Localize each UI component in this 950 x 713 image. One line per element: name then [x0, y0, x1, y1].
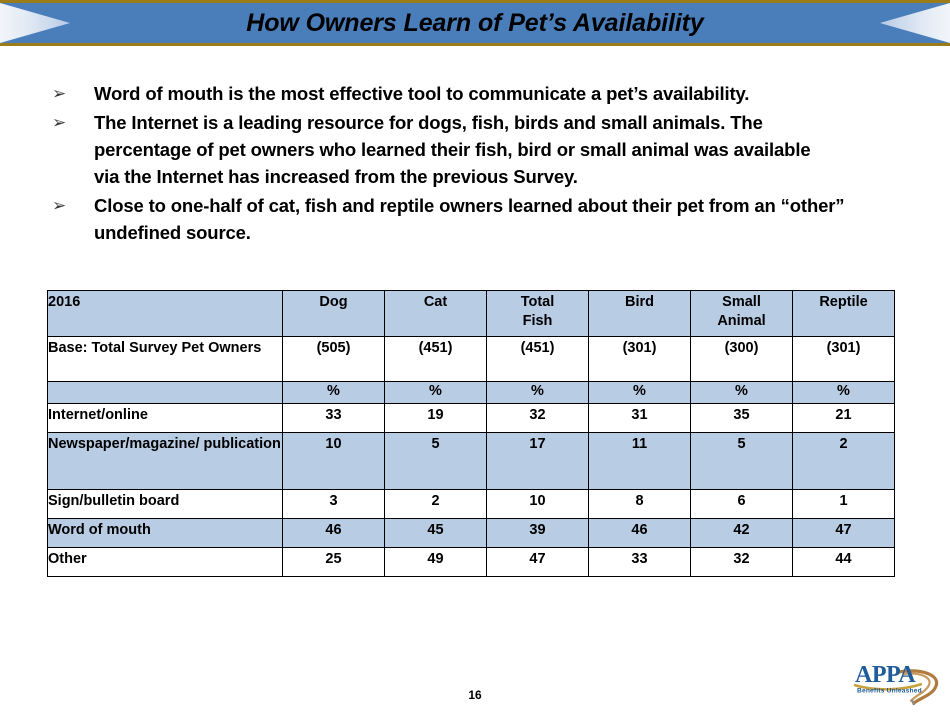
row-label: Base: Total Survey Pet Owners: [48, 337, 283, 382]
row-label: Internet/online: [48, 404, 283, 433]
row-cell: 39: [487, 519, 589, 548]
table-header-total-fish-line2: Fish: [523, 313, 553, 329]
appa-logo-graphic: APPA Benefits Unleashed: [852, 660, 944, 705]
row-cell: 46: [283, 519, 385, 548]
row-cell: (505): [283, 337, 385, 382]
table-row: Other 25 49 47 33 32 44: [48, 548, 895, 577]
table-header-bird: Bird: [589, 291, 691, 337]
row-cell: (300): [691, 337, 793, 382]
table-header-total-fish-line1: Total: [521, 294, 555, 310]
appa-wordmark-text: APPA: [855, 662, 916, 688]
row-cell: (301): [793, 337, 895, 382]
table-header-dog: Dog: [283, 291, 385, 337]
survey-table: 2016 Dog Cat Total Fish Bird Small Anima…: [47, 290, 895, 577]
arrowhead-bullet-icon: ➢: [48, 109, 94, 136]
row-cell: %: [793, 382, 895, 404]
table-header-small-animal-line1: Small: [722, 294, 761, 310]
row-cell: 11: [589, 433, 691, 490]
row-cell: 47: [793, 519, 895, 548]
table-row: Sign/bulletin board 3 2 10 8 6 1: [48, 490, 895, 519]
slide-title: How Owners Learn of Pet’s Availability: [0, 3, 950, 43]
row-cell: 1: [793, 490, 895, 519]
row-label: Other: [48, 548, 283, 577]
row-cell: 2: [385, 490, 487, 519]
list-item: ➢ The Internet is a leading resource for…: [48, 109, 908, 190]
list-item: ➢ Word of mouth is the most effective to…: [48, 80, 908, 107]
row-cell: 5: [691, 433, 793, 490]
arrowhead-bullet-icon: ➢: [48, 192, 94, 219]
row-cell: 10: [487, 490, 589, 519]
row-cell: 45: [385, 519, 487, 548]
row-cell: 21: [793, 404, 895, 433]
row-cell: 33: [589, 548, 691, 577]
table-row: Word of mouth 46 45 39 46 42 47: [48, 519, 895, 548]
row-cell: 25: [283, 548, 385, 577]
row-cell: %: [283, 382, 385, 404]
page-number: 16: [0, 688, 950, 702]
row-cell: (301): [589, 337, 691, 382]
row-cell: 33: [283, 404, 385, 433]
bullet-text: Close to one-half of cat, fish and repti…: [94, 192, 908, 246]
row-cell: (451): [487, 337, 589, 382]
table-header-small-animal: Small Animal: [691, 291, 793, 337]
row-cell: 32: [691, 548, 793, 577]
bullet-text: The Internet is a leading resource for d…: [94, 109, 824, 190]
table-header-reptile: Reptile: [793, 291, 895, 337]
title-banner: How Owners Learn of Pet’s Availability: [0, 0, 950, 46]
appa-tagline-text: Benefits Unleashed: [857, 688, 922, 695]
row-cell: %: [487, 382, 589, 404]
row-cell: 46: [589, 519, 691, 548]
row-cell: 3: [283, 490, 385, 519]
row-cell: 44: [793, 548, 895, 577]
table-row: % % % % % %: [48, 382, 895, 404]
row-cell: 42: [691, 519, 793, 548]
appa-logo: APPA Benefits Unleashed: [852, 660, 944, 705]
list-item: ➢ Close to one-half of cat, fish and rep…: [48, 192, 908, 246]
table-header-small-animal-line2: Animal: [717, 313, 765, 329]
row-cell: 8: [589, 490, 691, 519]
row-label: Word of mouth: [48, 519, 283, 548]
arrowhead-bullet-icon: ➢: [48, 80, 94, 107]
row-cell: 19: [385, 404, 487, 433]
survey-table-container: 2016 Dog Cat Total Fish Bird Small Anima…: [47, 290, 894, 577]
row-cell: 47: [487, 548, 589, 577]
row-label: Newspaper/magazine/ publication: [48, 433, 283, 490]
table-header-cat: Cat: [385, 291, 487, 337]
row-cell: (451): [385, 337, 487, 382]
table-row: Internet/online 33 19 32 31 35 21: [48, 404, 895, 433]
bullet-list: ➢ Word of mouth is the most effective to…: [48, 80, 908, 248]
table-row: Base: Total Survey Pet Owners (505) (451…: [48, 337, 895, 382]
row-cell: 17: [487, 433, 589, 490]
row-label: Sign/bulletin board: [48, 490, 283, 519]
row-cell: 35: [691, 404, 793, 433]
row-cell: %: [691, 382, 793, 404]
table-header-row: 2016 Dog Cat Total Fish Bird Small Anima…: [48, 291, 895, 337]
table-row: Newspaper/magazine/ publication 10 5 17 …: [48, 433, 895, 490]
row-cell: %: [385, 382, 487, 404]
row-cell: 5: [385, 433, 487, 490]
row-cell: 31: [589, 404, 691, 433]
row-label: [48, 382, 283, 404]
row-cell: 10: [283, 433, 385, 490]
row-cell: 6: [691, 490, 793, 519]
row-cell: 32: [487, 404, 589, 433]
table-header-year: 2016: [48, 291, 283, 337]
bullet-text: Word of mouth is the most effective tool…: [94, 80, 908, 107]
table-header-total-fish: Total Fish: [487, 291, 589, 337]
row-cell: 2: [793, 433, 895, 490]
row-cell: 49: [385, 548, 487, 577]
row-cell: %: [589, 382, 691, 404]
